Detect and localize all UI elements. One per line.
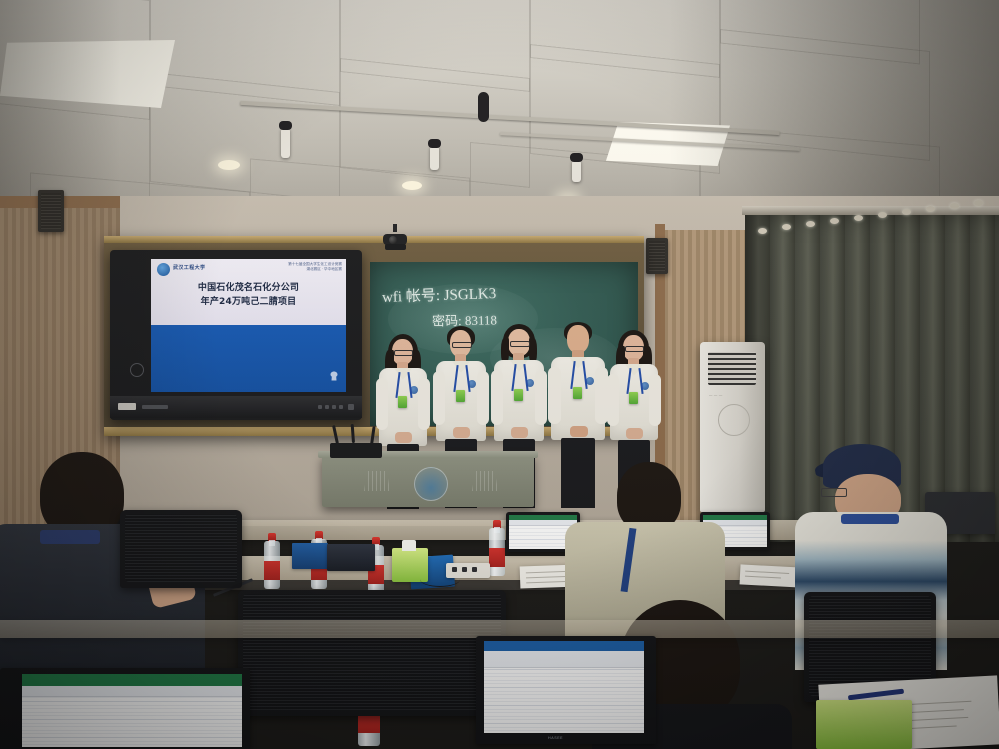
display-brand-plate (118, 403, 136, 410)
laptop-foreground-left-screen[interactable] (22, 674, 242, 747)
laptop-foreground-left[interactable] (0, 668, 250, 749)
laptop-foreground-center[interactable]: HASEE (476, 636, 656, 749)
presenter-1-badge (398, 396, 407, 408)
nameplate-blue-1 (292, 543, 328, 569)
presenter-4-badge (573, 387, 582, 399)
slide-title-line-1: 中国石化茂名石化分公司 (151, 281, 346, 295)
display-control-button-5[interactable] (339, 405, 343, 409)
track-spotlight-1 (281, 128, 290, 158)
slide-upper-half: 武汉工程大学 第十七届全国大学生化工设计竞赛 湖北赛区 · 华中地区赛 中国石化… (151, 259, 346, 325)
presenter-1-glasses-icon (394, 350, 413, 356)
podium-university-emblem-icon (414, 467, 448, 501)
laptop-foreground-center-screen[interactable] (484, 641, 644, 733)
ptz-camera-icon (383, 228, 407, 248)
paper-stack-right[interactable] (740, 564, 803, 587)
chair-center-front[interactable] (238, 590, 506, 716)
tissue-sheet-1 (402, 540, 416, 551)
downlight-1 (218, 160, 240, 170)
presenter-2-glasses-icon (452, 342, 472, 348)
slide-header-line-2: 湖北赛区 · 华中地区赛 (288, 267, 342, 272)
wall-speaker-left (38, 190, 64, 232)
board-frame-top-rail (104, 236, 644, 243)
slide-logo-text: 武汉工程大学 (173, 264, 205, 271)
tissue-box-2[interactable] (816, 700, 912, 749)
chair-left[interactable] (120, 510, 242, 588)
track-spotlight-3 (572, 160, 581, 182)
nameplate-dark-1 (327, 544, 375, 571)
display-control-button-6[interactable] (348, 404, 354, 410)
wall-speaker-right (646, 238, 668, 274)
water-bottle-4[interactable] (489, 520, 505, 576)
chalkboard-line-1: wfi 帐号: JSGLK3 (382, 282, 497, 307)
ac-brand-label: — — — (709, 393, 723, 397)
display-control-button-3[interactable] (325, 405, 329, 409)
slide-title: 中国石化茂名石化分公司 年产24万吨己二腈项目 (151, 281, 346, 310)
classroom-scene: wfi 帐号: JSGLK3 密码: 83118 武汉工程大学 第十七届全国大学… (0, 0, 999, 749)
display-control-button-1[interactable] (142, 405, 168, 409)
ac-fan-ring-icon (718, 404, 750, 436)
laptop-brand-label: HASEE (548, 736, 563, 740)
water-bottle-1[interactable] (264, 533, 280, 589)
display-screen[interactable]: 武汉工程大学 第十七届全国大学生化工设计竞赛 湖北赛区 · 华中地区赛 中国石化… (151, 259, 346, 392)
presenter-3-badge (514, 389, 523, 401)
wifi-router[interactable] (330, 443, 382, 458)
display-control-button-4[interactable] (332, 405, 336, 409)
curtain-rail (742, 206, 999, 215)
judge-left-lanyard (40, 530, 100, 544)
lecture-podium (322, 455, 534, 507)
power-cable (420, 572, 460, 587)
judge-right-lanyard (841, 514, 899, 524)
ceiling-sensor-icon (478, 92, 489, 122)
display-power-indicator-icon (130, 363, 144, 377)
track-spotlight-2 (430, 146, 439, 170)
presenter-2-badge (456, 390, 465, 402)
judge-right-glasses-icon (821, 488, 847, 497)
presenter-5-badge (629, 392, 638, 404)
downlight-2 (402, 181, 422, 190)
university-logo-icon (157, 263, 170, 276)
podium-decor-left (364, 471, 390, 491)
slide-decorative-icon (328, 370, 340, 382)
slide-lower-half: 设计团队 THE K-2 项目成员 邓丹丹 肖娜 胡欣怡 刘瑶 余明灿 指导教师… (151, 325, 346, 392)
presenter-3-glasses-icon (510, 341, 530, 347)
slide-title-line-2: 年产24万吨己二腈项目 (151, 295, 346, 309)
podium-decor-right (472, 471, 498, 491)
ac-air-grille-icon (708, 352, 756, 385)
slide-header-right: 第十七届全国大学生化工设计竞赛 湖北赛区 · 华中地区赛 (288, 262, 342, 272)
presenter-5-glasses-icon (625, 346, 644, 352)
display-control-button-2[interactable] (318, 405, 322, 409)
